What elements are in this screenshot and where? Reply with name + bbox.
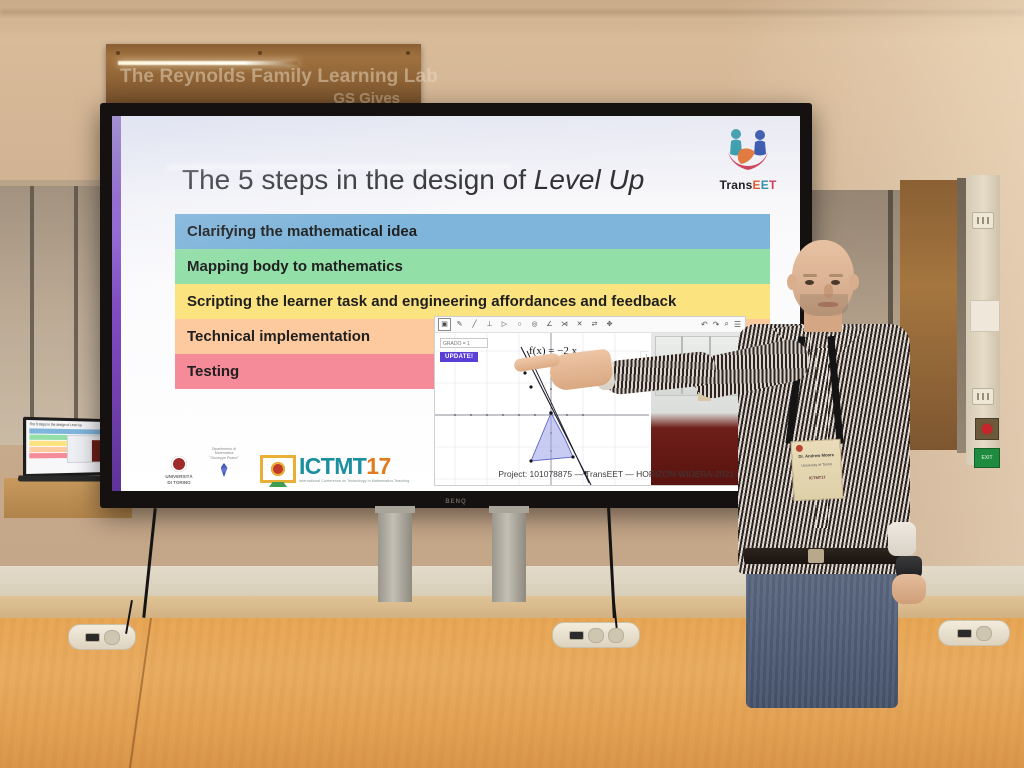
tool-angle-icon[interactable]: ∠ [543,318,556,331]
benq-brand-label: BENQ [445,499,466,505]
slide-title-emphasis: Level Up [534,164,645,195]
tool-line-icon[interactable]: ╱ [468,318,481,331]
presenter-right-hand [892,574,926,604]
presentation-room-photo: EXIT The Reynolds Family Learning Lab GS… [0,0,1024,768]
power-socket-icon[interactable] [588,628,604,643]
step-label: Testing [187,363,239,380]
tool-circle-icon[interactable]: ○ [513,318,526,331]
update-button[interactable]: UPDATE! [440,352,478,362]
step-label: Technical implementation [187,328,370,345]
power-socket-icon[interactable] [976,626,992,641]
data-port-icon[interactable] [608,628,624,643]
wall-socket-upper[interactable] [972,212,994,229]
badge-dot-icon [796,445,803,452]
usb-port-icon[interactable] [957,629,972,638]
name-badge: Dr. Andrew Moore University of Torino IC… [790,439,843,502]
geogebra-toolbar[interactable]: ▣ ✎ ╱ ⊥ ▷ ○ ◎ ∠ ⋊ ✕ ⇄ ✥ ↶ ↷ [435,317,745,333]
tool-move-graphics-icon[interactable]: ✥ [603,318,616,331]
screen-sheen [167,165,511,169]
badge-name: Dr. Andrew Moore [795,452,837,459]
tool-point-icon[interactable]: ✎ [453,318,466,331]
power-socket-icon[interactable] [104,630,120,645]
step-row: Scripting the learner task and engineeri… [175,284,770,319]
exit-sign: EXIT [974,448,1000,468]
shirt-placket [816,348,828,528]
tool-text-icon[interactable]: ✕ [573,318,586,331]
display-screen[interactable]: TransEET The 5 steps in the design of Le… [112,116,800,491]
grado-label: GRADO = [443,341,466,347]
step-row: Clarifying the mathematical idea [175,214,770,249]
sign-title: The Reynolds Family Learning Lab [120,66,412,88]
laptop-slide-title: The 5 steps in the design of Level Up [29,422,102,428]
wall-sign: The Reynolds Family Learning Lab GS Give… [106,44,421,110]
grado-value: 1 [467,341,470,347]
badge-org: University of Torino [796,462,838,469]
university-name: UNIVERSITÀ DI TORINO [164,474,194,485]
grado-input[interactable]: GRADO = 1 [440,338,488,348]
emergency-button[interactable] [975,418,999,440]
wall-switch-box[interactable] [970,300,1000,332]
tool-slider-icon[interactable]: ⇄ [588,318,601,331]
department-logo: Dipartimento di Matematica "Giuseppe Pea… [200,447,248,477]
slide-footer: UNIVERSITÀ DI TORINO Dipartimento di Mat… [112,445,800,487]
dept-line-3: "Giuseppe Peano" [200,456,248,460]
belt-buckle [808,549,824,563]
tool-reflect-icon[interactable]: ⋊ [558,318,571,331]
monitor-icon [260,455,296,483]
presenter-right-cuff [888,522,916,556]
desk-power-module-center[interactable] [552,622,640,648]
transeet-logo: TransEET [712,128,784,190]
university-logo: UNIVERSITÀ DI TORINO [164,456,194,485]
presenter-nose [824,284,833,298]
display-stand-leg-left [378,512,412,602]
desk-power-module-right[interactable] [938,620,1010,646]
usb-port-icon[interactable] [85,633,100,642]
presenter: Dr. Andrew Moore University of Torino IC… [700,240,940,640]
step-label: Scripting the learner task and engineeri… [187,293,676,310]
presenter-mouth [818,302,838,307]
badge-event: ICTMT17 [796,474,838,481]
step-label: Mapping body to mathematics [187,258,403,275]
presenter-jeans [746,558,898,708]
transeet-figures-icon [720,128,776,172]
slide: TransEET The 5 steps in the design of Le… [112,116,800,491]
tool-move-icon[interactable]: ▣ [438,318,451,331]
slide-accent-bar [112,116,121,491]
university-crest-icon [171,456,187,472]
step-row: Mapping body to mathematics [175,249,770,284]
wall-socket-lower[interactable] [972,388,994,405]
step-label: Clarifying the mathematical idea [187,223,417,240]
flower-icon [271,462,285,476]
department-mark-icon [221,463,228,477]
transeet-logo-text: TransEET [712,178,784,192]
tool-polygon-icon[interactable]: ▷ [498,318,511,331]
tool-ellipse-icon[interactable]: ◎ [528,318,541,331]
laptop-screen[interactable]: The 5 steps in the design of Level Up [23,417,108,477]
sign-light-strip [118,61,298,65]
slide-title: The 5 steps in the design of Level Up [182,164,644,196]
ictmt-tagline: International Conference on Technology i… [299,479,409,483]
tool-perpendicular-icon[interactable]: ⊥ [483,318,496,331]
ictmt-logo: ICTMT17 International Conference on Tech… [260,455,409,483]
laptop-mirrored-slide: The 5 steps in the design of Level Up [26,420,105,474]
usb-port-icon[interactable] [569,631,584,640]
display-stand-leg-right [492,512,526,602]
ictmt-wordmark: ICTMT17 [299,455,409,478]
